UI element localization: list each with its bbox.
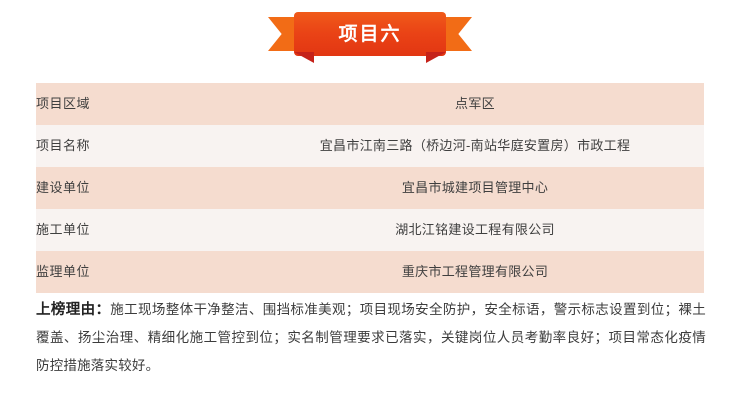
table-row: 施工单位 湖北江铭建设工程有限公司: [36, 209, 704, 251]
row-label: 施工单位: [36, 209, 246, 251]
reason-paragraph: 上榜理由：施工现场整体干净整洁、围挡标准美观；项目现场安全防护，安全标语，警示标…: [36, 296, 706, 380]
reason-separator: ：: [95, 302, 110, 318]
row-value: 宜昌市城建项目管理中心: [246, 167, 704, 209]
table-row: 建设单位 宜昌市城建项目管理中心: [36, 167, 704, 209]
reason-text: 施工现场整体干净整洁、围挡标准美观；项目现场安全防护，安全标语，警示标志设置到位…: [36, 302, 706, 373]
row-value: 宜昌市江南三路（桥边河-南站华庭安置房）市政工程: [246, 125, 704, 167]
table-row: 项目名称 宜昌市江南三路（桥边河-南站华庭安置房）市政工程: [36, 125, 704, 167]
row-label: 项目区域: [36, 83, 246, 125]
ribbon-banner: 项目六: [294, 12, 446, 56]
row-label: 建设单位: [36, 167, 246, 209]
row-value: 湖北江铭建设工程有限公司: [246, 209, 704, 251]
ribbon-body: 项目六: [294, 12, 446, 56]
reason-label: 上榜理由: [36, 302, 95, 318]
table-row: 监理单位 重庆市工程管理有限公司: [36, 251, 704, 293]
row-value: 重庆市工程管理有限公司: [246, 251, 704, 293]
project-info-table: 项目区域 点军区 项目名称 宜昌市江南三路（桥边河-南站华庭安置房）市政工程 建…: [36, 83, 704, 293]
banner-section: 项目六: [0, 0, 740, 70]
table-row: 项目区域 点军区: [36, 83, 704, 125]
banner-title: 项目六: [338, 25, 401, 44]
ribbon-fold-left-icon: [294, 52, 314, 63]
row-label: 监理单位: [36, 251, 246, 293]
row-value: 点军区: [246, 83, 704, 125]
row-label: 项目名称: [36, 125, 246, 167]
ribbon-fold-right-icon: [426, 52, 446, 63]
